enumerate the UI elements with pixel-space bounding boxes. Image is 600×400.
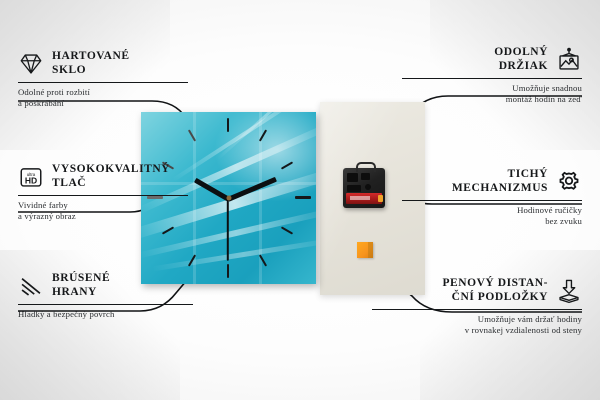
tick-mark (281, 161, 293, 169)
feature-polished-edges: BRÚSENÉ HRANY Hladký a bezpečný povrch (18, 272, 193, 320)
clock-center-pin (226, 196, 231, 201)
feature-title-line1: ODOLNÝ (494, 46, 548, 60)
feature-title-line1: PENOVÝ DISTAN- (442, 277, 548, 291)
tick-mark (295, 196, 311, 199)
feature-title-line2: ČNÍ PODLOŽKY (442, 291, 548, 305)
feature-title-line2: DRŽIAK (494, 60, 548, 74)
feature-divider (18, 82, 188, 83)
feature-title-line1: HARTOVANÉ (52, 50, 130, 64)
feature-sub-line1: Umožňuje snadnou (402, 83, 582, 94)
infographic-canvas: HARTOVANÉ SKLO Odolné proti rozbití a po… (0, 0, 600, 400)
feature-title-line2: HRANY (52, 286, 110, 300)
feature-title-line2: MECHANIZMUS (452, 182, 548, 196)
feature-sub-line1: Umožňuje vám držať hodiny (372, 314, 582, 325)
feature-divider (18, 304, 193, 305)
tick-mark (227, 264, 229, 278)
feature-sub-line2: a poškrábání (18, 98, 188, 109)
feature-divider (402, 78, 582, 79)
feature-high-quality-print: ultra HD VYSOKOKVALITNÝ TLAČ Vividné far… (18, 163, 188, 223)
feature-silent-mechanism: TICHÝ MECHANIZMUS Hodinové ručičky bez z… (402, 168, 582, 228)
feature-sub-line2: a výrazný obraz (18, 211, 188, 222)
feature-title-line1: TICHÝ (452, 168, 548, 182)
ultra-hd-icon: ultra HD (18, 164, 44, 190)
feature-title-line1: BRÚSENÉ (52, 272, 110, 286)
feature-divider (372, 309, 582, 310)
feature-sub-line2: bez zvuku (402, 216, 582, 227)
feature-foam-spacers: PENOVÝ DISTAN- ČNÍ PODLOŽKY Umožňuje vám… (372, 277, 582, 337)
feature-sub-line1: Hladký a bezpečný povrch (18, 309, 193, 320)
feature-sub-line2: montáž hodin na zeď (402, 94, 582, 105)
feature-sub-line1: Hodinové ručičky (402, 205, 582, 216)
feature-sub-line1: Odolné proti rozbití (18, 87, 188, 98)
feature-sub-line1: Vividné farby (18, 200, 188, 211)
feature-divider (18, 195, 188, 196)
diamond-icon (18, 51, 44, 77)
second-hand (227, 198, 229, 260)
feature-tempered-glass: HARTOVANÉ SKLO Odolné proti rozbití a po… (18, 50, 188, 110)
feature-sub-line2: v rovnakej vzdialenosti od steny (372, 325, 582, 336)
polished-edges-icon (18, 273, 44, 299)
feature-title-line2: TLAČ (52, 177, 170, 191)
clock-mechanism (343, 168, 385, 208)
feature-durable-hanger: ODOLNÝ DRŽIAK Umožňuje snadnou montáž ho… (402, 46, 582, 106)
feature-title-line1: VYSOKOKVALITNÝ (52, 163, 170, 177)
battery (346, 193, 382, 204)
gear-icon (556, 169, 582, 195)
tick-mark (227, 118, 229, 132)
foam-spacer-pad (357, 242, 373, 258)
picture-frame-icon (556, 47, 582, 73)
mechanism-hanger (356, 162, 376, 172)
feature-divider (402, 200, 582, 201)
tick-mark (281, 226, 293, 234)
ultra-hd-icon-large-text: HD (25, 175, 37, 185)
foam-spacer-icon (556, 278, 582, 304)
feature-title-line2: SKLO (52, 64, 130, 78)
